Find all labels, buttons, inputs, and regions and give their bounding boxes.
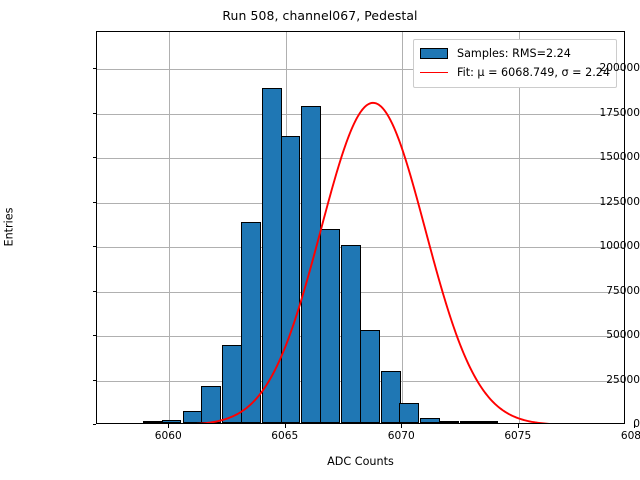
x-tick-mark <box>168 424 169 428</box>
y-tick-mark <box>93 291 97 292</box>
gaussian-fit-curve <box>97 32 624 423</box>
y-tick-mark <box>93 246 97 247</box>
y-tick-label: 100000 <box>552 240 640 252</box>
y-tick-label: 125000 <box>552 196 640 208</box>
plot-axes: Samples: RMS=2.24 Fit: μ = 6068.749, σ =… <box>96 31 625 424</box>
y-tick-label: 150000 <box>552 151 640 163</box>
x-tick-label: 6070 <box>388 430 415 442</box>
y-tick-label: 50000 <box>552 329 640 341</box>
x-axis-label: ADC Counts <box>96 455 625 468</box>
x-tick-label: 6080 <box>621 430 640 442</box>
plot-area <box>97 32 624 423</box>
page-title: Run 508, channel067, Pedestal <box>0 8 640 23</box>
y-tick-label: 175000 <box>552 107 640 119</box>
x-tick-mark <box>518 424 519 428</box>
x-tick-mark <box>285 424 286 428</box>
x-tick-label: 6065 <box>271 430 298 442</box>
y-tick-label: 75000 <box>552 285 640 297</box>
legend-item-samples: Samples: RMS=2.24 <box>420 44 610 63</box>
x-tick-mark <box>634 424 635 428</box>
y-tick-mark <box>93 335 97 336</box>
y-tick-mark <box>93 113 97 114</box>
y-tick-label: 200000 <box>552 62 640 74</box>
y-tick-mark <box>93 202 97 203</box>
x-tick-mark <box>401 424 402 428</box>
samples-swatch-icon <box>420 48 448 59</box>
y-tick-mark <box>93 157 97 158</box>
y-tick-mark <box>93 380 97 381</box>
y-axis-label: Entries <box>3 208 16 247</box>
x-tick-label: 6060 <box>155 430 182 442</box>
x-tick-label: 6075 <box>504 430 531 442</box>
y-tick-label: 25000 <box>552 374 640 386</box>
y-tick-label: 0 <box>552 418 640 430</box>
y-tick-mark <box>93 424 97 425</box>
y-tick-mark <box>93 68 97 69</box>
legend-label-samples: Samples: RMS=2.24 <box>457 47 571 60</box>
matplotlib-figure: Run 508, channel067, Pedestal Samples: R… <box>0 0 640 480</box>
fit-line-icon <box>420 72 448 73</box>
